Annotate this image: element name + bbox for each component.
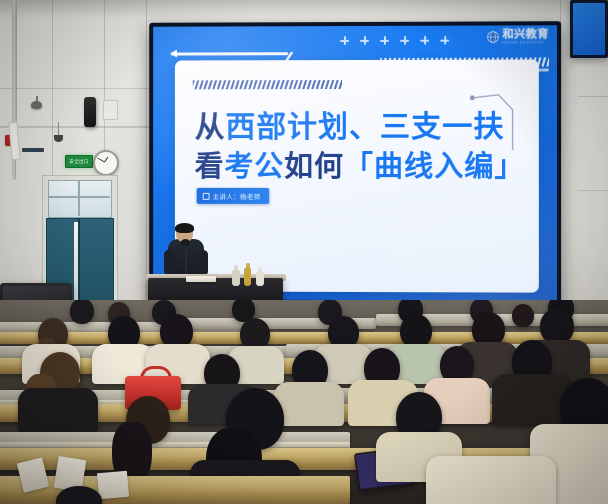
left-arrow-line xyxy=(171,52,288,55)
audience-area xyxy=(0,300,608,504)
wall-clock xyxy=(93,150,119,176)
brand-logo: 和兴教育 HEXING EDUCATION xyxy=(486,29,549,44)
speaker-badge: 主讲人：杨老师 xyxy=(197,188,270,204)
side-monitor[interactable] xyxy=(570,0,608,58)
brand-logo-name: 和兴教育 xyxy=(503,29,549,40)
speaker-badge-label: 主讲人：杨老师 xyxy=(213,191,261,201)
audience-torso xyxy=(426,456,556,504)
presenter-hair xyxy=(175,223,194,233)
sparkle-icon xyxy=(340,36,349,45)
sparkle-icon xyxy=(380,36,389,45)
door-transom-glass xyxy=(48,180,112,218)
wall-speaker-icon xyxy=(84,97,96,127)
screen-display: 和兴教育 HEXING EDUCATION xyxy=(153,25,557,301)
brand-logo-sublabel: HEXING EDUCATION xyxy=(503,41,549,44)
slide-card: 从西部计划、三支一扶 看考公如何「曲线入编」 主讲人：杨老师 xyxy=(175,59,539,292)
exit-sign: 安全出口 xyxy=(65,155,93,168)
lectern-papers xyxy=(186,276,216,282)
sparkle-icon xyxy=(360,36,369,45)
notebook-paper xyxy=(97,471,129,500)
presenter xyxy=(168,224,204,280)
wall-seam xyxy=(0,88,150,89)
sparkle-icon xyxy=(440,36,449,45)
bench-rail xyxy=(0,442,350,447)
water-bottle xyxy=(232,270,240,286)
title-seg-accent: 「曲线入编」 xyxy=(344,149,525,183)
hanging-dome xyxy=(54,135,63,142)
presenter-arm xyxy=(164,250,173,276)
ceiling-conduit xyxy=(12,0,17,132)
title-seg-accent: 考公 xyxy=(225,149,285,183)
side-monitor-screen xyxy=(573,3,605,55)
wall-strip xyxy=(22,148,44,152)
sparkle-icon xyxy=(420,36,429,45)
audience-head xyxy=(400,314,432,348)
presenter-arm xyxy=(199,250,208,276)
exit-sign-label: 安全出口 xyxy=(69,159,88,165)
title-seg-plain: 如何 xyxy=(284,149,344,183)
slide-title-line-1: 从西部计划、三支一扶 xyxy=(195,112,525,144)
wall-seam xyxy=(0,126,150,128)
title-seg-plain: 看 xyxy=(195,149,225,183)
bench xyxy=(0,476,350,504)
slide-title-line-2: 看考公如何「曲线入编」 xyxy=(195,151,525,182)
wall-seam xyxy=(578,190,608,191)
slide-title: 从西部计划、三支一扶 看考公如何「曲线入编」 xyxy=(195,112,525,182)
audience-torso xyxy=(274,382,344,426)
speaker-badge-icon xyxy=(203,192,210,199)
microphone-icon xyxy=(181,239,190,246)
globe-logo-icon xyxy=(486,31,499,44)
card-hatch-decoration xyxy=(193,80,342,89)
title-seg-accent: 西部计划、三支一扶 xyxy=(225,110,504,145)
door-mullion xyxy=(78,180,80,216)
title-seg-plain: 从 xyxy=(195,110,226,145)
wall-plate xyxy=(103,100,118,120)
audience-head xyxy=(540,308,574,344)
sparkle-icon xyxy=(400,36,409,45)
hanging-cable xyxy=(58,122,59,136)
wall-seam xyxy=(146,0,147,300)
wall-seam xyxy=(578,96,608,97)
presentation-screen[interactable]: 和兴教育 HEXING EDUCATION xyxy=(149,21,561,305)
water-bottle xyxy=(256,272,264,286)
security-camera-icon xyxy=(31,101,42,109)
audience-head xyxy=(70,300,94,324)
door-mullion xyxy=(48,196,110,198)
bench xyxy=(0,332,608,344)
sparkle-decoration xyxy=(340,36,449,45)
water-bottle xyxy=(244,268,251,286)
lecture-hall-screenshot: 安全出口 和兴教育 xyxy=(0,0,608,504)
audience-torso xyxy=(18,388,98,432)
audience-head xyxy=(512,304,534,327)
ceiling-shade xyxy=(0,0,608,18)
